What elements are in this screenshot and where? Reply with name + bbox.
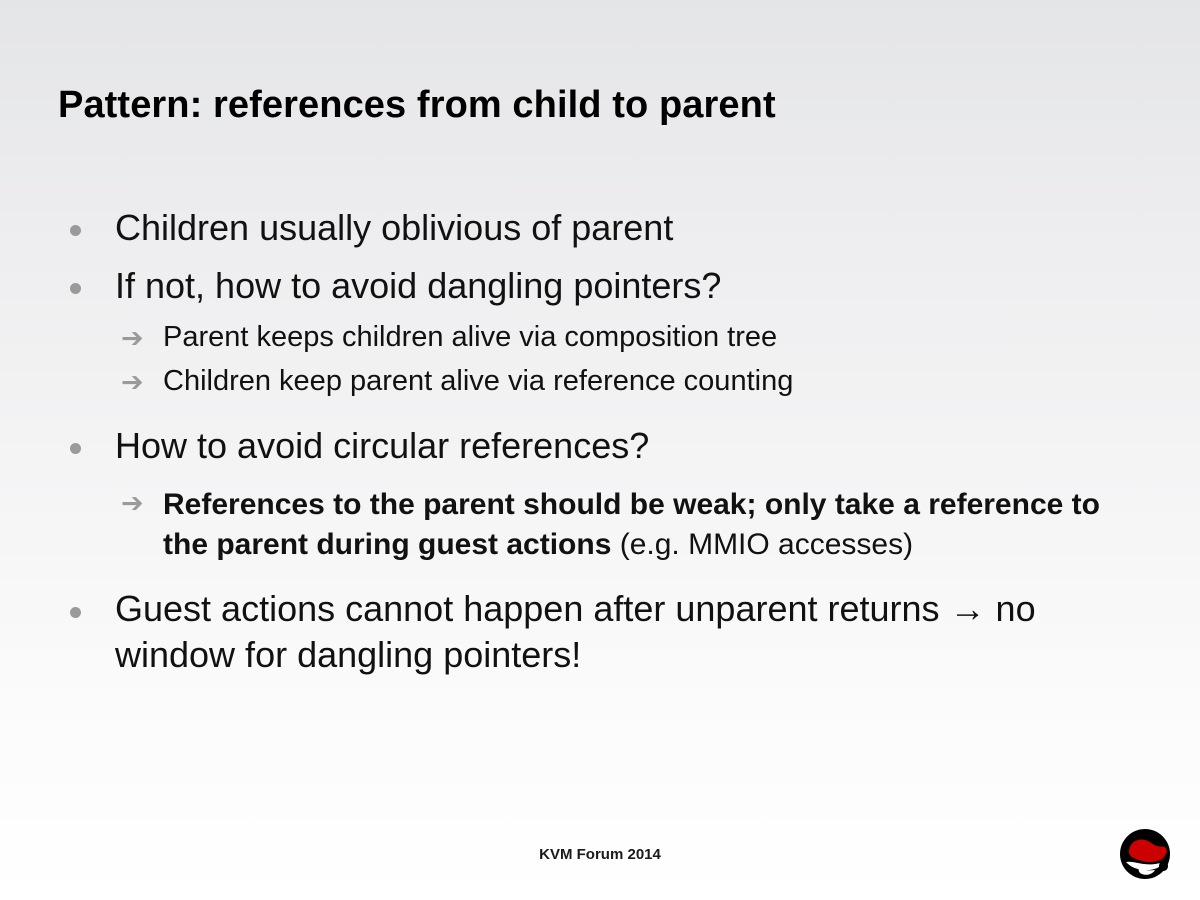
slide-title: Pattern: references from child to parent [58, 84, 1138, 128]
slide-footer: KVM Forum 2014 [0, 846, 1200, 863]
slide-body: Children usually oblivious of parent If … [58, 205, 1148, 689]
slide: Pattern: references from child to parent… [0, 0, 1200, 900]
sub-bullet-label: Children keep parent alive via reference… [163, 365, 793, 397]
sub-bullet-label: Parent keeps children alive via composit… [163, 321, 777, 353]
arrow-right-icon: ➔ [121, 324, 151, 354]
bullet-item: Children usually oblivious of parent [58, 205, 1148, 251]
bullet-dot-icon [70, 225, 81, 236]
sub-bullet-item: ➔ Parent keeps children alive via compos… [58, 319, 1148, 357]
red-hat-shadowman-logo [1117, 828, 1179, 888]
bullet-item: If not, how to avoid dangling pointers? [58, 263, 1148, 309]
bullet-label: Guest actions cannot happen after unpare… [115, 588, 1036, 675]
sub-bullet-label-normal: (e.g. MMIO accesses) [611, 528, 913, 561]
sub-bullet-item-emphasis: ➔ References to the parent should be wea… [58, 485, 1148, 565]
bullet-dot-icon [70, 283, 81, 294]
bullet-item: How to avoid circular references? [58, 423, 1148, 469]
arrow-right-icon: ➔ [121, 489, 151, 519]
bullet-label: Children usually oblivious of parent [115, 207, 673, 248]
bullet-item: Guest actions cannot happen after unpare… [58, 586, 1148, 678]
sub-bullet-item: ➔ Children keep parent alive via referen… [58, 363, 1148, 401]
bullet-dot-icon [70, 607, 81, 618]
bullet-dot-icon [70, 443, 81, 454]
bullet-label: If not, how to avoid dangling pointers? [115, 265, 721, 306]
bullet-label: How to avoid circular references? [115, 425, 649, 466]
arrow-right-icon: ➔ [121, 368, 151, 398]
